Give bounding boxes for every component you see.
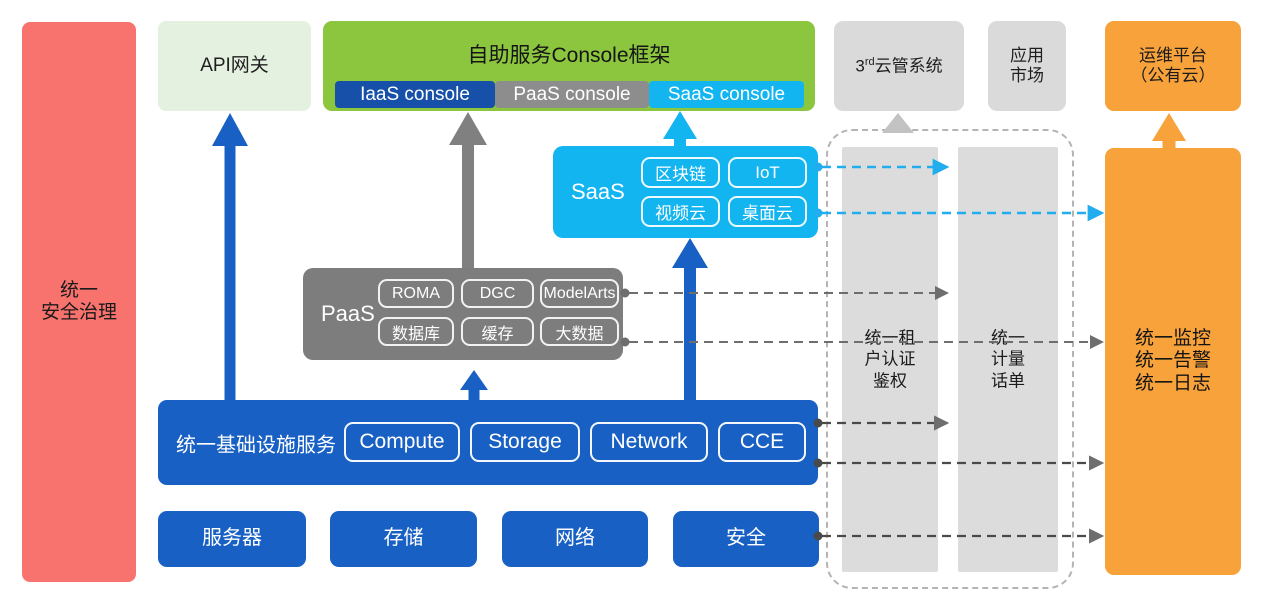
ops-platform-line-1: 运维平台 (1131, 46, 1216, 66)
governance-label: 统一 安全治理 (41, 280, 117, 325)
infra-item-label: Compute (359, 430, 444, 454)
paas-item-bigdata[interactable]: 大数据 (540, 317, 619, 346)
resource-label: 服务器 (202, 527, 262, 551)
saas-block: SaaS 区块链 IoT 视频云 桌面云 (553, 146, 818, 238)
app-market-box: 应用 市场 (988, 21, 1066, 111)
billing-line-1: 统一 (958, 327, 1058, 349)
paas-item-label: 大数据 (555, 320, 603, 344)
app-market-label: 应用 市场 (1010, 46, 1044, 86)
arrow-paas-to-console (449, 112, 487, 268)
saas-item-video-cloud[interactable]: 视频云 (641, 196, 720, 227)
saas-item-label: 桌面云 (742, 199, 793, 224)
architecture-diagram: 统一 安全治理 API网关 自助服务Console框架 IaaS console… (0, 0, 1265, 605)
paas-item-label: 缓存 (481, 320, 513, 344)
governance-line-1: 统一 (41, 280, 117, 302)
paas-item-modelarts[interactable]: ModelArts (540, 279, 619, 308)
resource-box-network: 网络 (502, 511, 648, 567)
paas-label: PaaS (321, 301, 375, 327)
saas-console-label: SaaS console (668, 84, 785, 106)
paas-console-chip[interactable]: PaaS console (495, 81, 649, 108)
arrow-infra-to-saas (672, 238, 708, 400)
saas-console-chip[interactable]: SaaS console (649, 81, 804, 108)
infra-item-label: CCE (740, 430, 784, 454)
paas-item-label: ModelArts (543, 285, 615, 303)
unified-tenant-auth-label: 统一租 户认证 鉴权 (842, 327, 938, 392)
third-party-cloud-mgmt-label: 3rd云管系统 (855, 56, 942, 77)
paas-console-label: PaaS console (513, 84, 630, 106)
saas-item-desktop-cloud[interactable]: 桌面云 (728, 196, 807, 227)
saas-item-blockchain[interactable]: 区块链 (641, 157, 720, 188)
api-gateway-box: API网关 (158, 21, 311, 111)
unified-tenant-auth-column: 统一租 户认证 鉴权 (842, 147, 938, 572)
resource-box-storage: 存储 (330, 511, 477, 567)
ops-line-1: 统一监控 (1135, 328, 1211, 350)
ops-platform-label: 运维平台 （公有云） (1131, 46, 1216, 86)
saas-label: SaaS (571, 179, 625, 205)
app-market-line-2: 市场 (1010, 66, 1044, 86)
iaas-console-label: IaaS console (360, 84, 470, 106)
ordinal-superscript: rd (865, 56, 875, 68)
infra-item-label: Storage (488, 430, 562, 454)
unified-ops-label: 统一监控 统一告警 统一日志 (1135, 328, 1211, 395)
arrow-infra-to-api-gateway (212, 113, 248, 400)
third-party-cloud-mgmt-box: 3rd云管系统 (834, 21, 964, 111)
ops-platform-line-2: （公有云） (1131, 66, 1216, 86)
self-service-console-frame: 自助服务Console框架 IaaS console PaaS console … (323, 21, 815, 111)
infrastructure-label: 统一基础设施服务 (176, 428, 336, 457)
auth-line-2: 户认证 (842, 349, 938, 371)
iaas-console-chip[interactable]: IaaS console (335, 81, 495, 108)
arrow-saas-to-console (663, 111, 697, 146)
api-gateway-label: API网关 (200, 55, 269, 77)
saas-item-label: 区块链 (655, 160, 706, 185)
infra-item-network[interactable]: Network (590, 422, 708, 462)
auth-line-3: 鉴权 (842, 370, 938, 392)
paas-block: PaaS ROMA DGC ModelArts 数据库 缓存 大数据 (303, 268, 623, 360)
unified-infrastructure-service-bar: 统一基础设施服务 Compute Storage Network CCE (158, 400, 818, 485)
saas-item-label: IoT (755, 163, 780, 183)
resource-box-server: 服务器 (158, 511, 306, 567)
ops-line-2: 统一告警 (1135, 350, 1211, 372)
paas-item-label: 数据库 (392, 320, 440, 344)
ops-platform-public-cloud-box: 运维平台 （公有云） (1105, 21, 1241, 111)
resource-label: 存储 (384, 527, 424, 551)
app-market-line-1: 应用 (1010, 46, 1044, 66)
unified-metering-billing-label: 统一 计量 话单 (958, 327, 1058, 392)
infra-item-cce[interactable]: CCE (718, 422, 806, 462)
resource-box-security: 安全 (673, 511, 819, 567)
ops-line-3: 统一日志 (1135, 373, 1211, 395)
unified-metering-billing-column: 统一 计量 话单 (958, 147, 1058, 572)
auth-line-1: 统一租 (842, 327, 938, 349)
infra-item-label: Network (610, 430, 687, 454)
arrow-infra-to-paas (460, 370, 488, 400)
unified-security-governance: 统一 安全治理 (22, 22, 136, 582)
billing-line-2: 计量 (958, 349, 1058, 371)
unified-ops-panel: 统一监控 统一告警 统一日志 (1105, 148, 1241, 575)
governance-line-2: 安全治理 (41, 302, 117, 324)
arrow-ops-panel-to-ops-platform (1152, 113, 1186, 148)
paas-item-label: ROMA (392, 285, 440, 303)
paas-item-cache[interactable]: 缓存 (461, 317, 534, 346)
billing-line-3: 话单 (958, 370, 1058, 392)
paas-item-dgc[interactable]: DGC (461, 279, 534, 308)
infra-item-storage[interactable]: Storage (470, 422, 580, 462)
resource-label: 网络 (555, 527, 595, 551)
console-frame-title: 自助服务Console框架 (323, 39, 815, 69)
resource-label: 安全 (726, 527, 766, 551)
infra-item-compute[interactable]: Compute (344, 422, 460, 462)
paas-item-label: DGC (480, 285, 516, 303)
paas-item-roma[interactable]: ROMA (378, 279, 454, 308)
saas-item-label: 视频云 (655, 199, 706, 224)
saas-item-iot[interactable]: IoT (728, 157, 807, 188)
paas-item-database[interactable]: 数据库 (378, 317, 454, 346)
